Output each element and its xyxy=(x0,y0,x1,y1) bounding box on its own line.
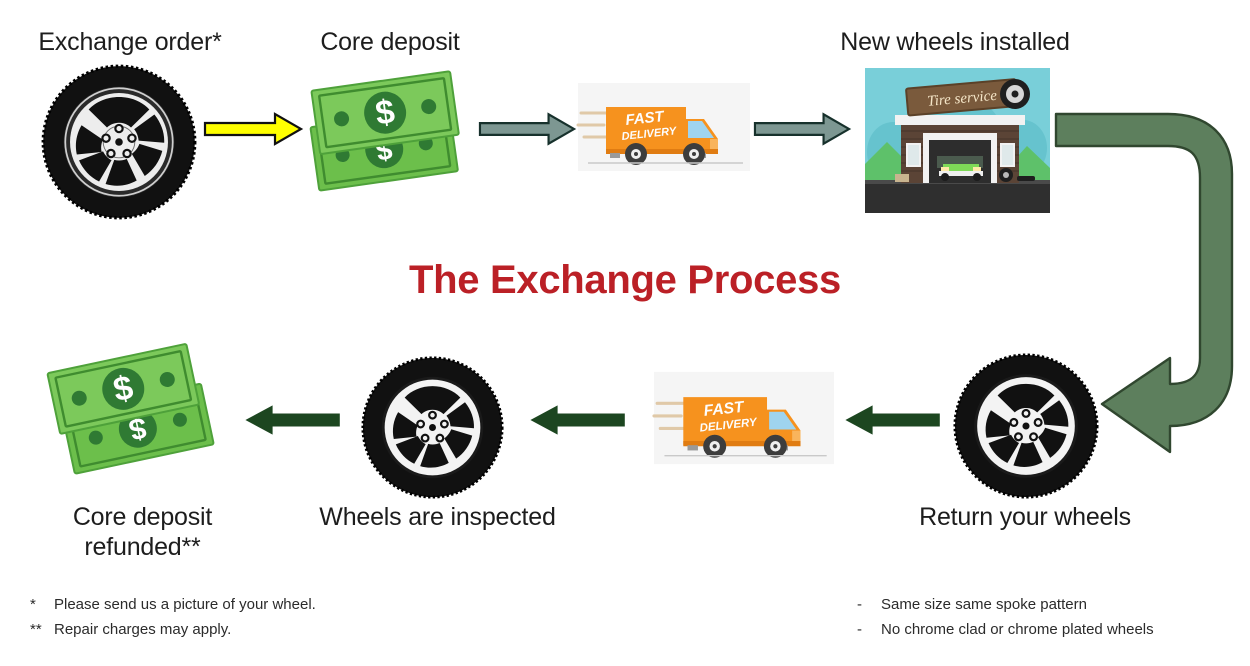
money-bills-icon: $ $ xyxy=(305,78,480,203)
footnote-text: Repair charges may apply. xyxy=(54,621,231,638)
exchange-process-diagram: Exchange order* Core deposit New wheels … xyxy=(0,0,1250,666)
label-core-deposit: Core deposit xyxy=(300,28,480,58)
footnotes-right: -Same size same spoke pattern -No chrome… xyxy=(857,593,1154,643)
footnote-text: Same size same spoke pattern xyxy=(881,596,1087,613)
footnote-text: No chrome clad or chrome plated wheels xyxy=(881,621,1154,638)
tire-wheel-silver-icon xyxy=(360,355,505,500)
arrow-inspect-to-refund xyxy=(245,405,341,435)
label-new-wheels-installed: New wheels installed xyxy=(810,28,1100,58)
footnote-text: Please send us a picture of your wheel. xyxy=(54,596,316,613)
footnote-marker: - xyxy=(857,593,881,618)
arrow-shipping-to-install xyxy=(753,112,851,146)
arrow-shipping-to-inspect xyxy=(530,405,626,435)
footnotes-left: *Please send us a picture of your wheel.… xyxy=(30,593,316,643)
tire-wheel-black-icon xyxy=(40,63,198,221)
footnote-right-1: -Same size same spoke pattern xyxy=(857,593,1154,618)
label-wheels-are-inspected: Wheels are inspected xyxy=(300,503,575,533)
label-return-your-wheels: Return your wheels xyxy=(900,503,1150,533)
refund-label-line2: refunded** xyxy=(84,533,200,561)
label-core-deposit-refunded: Core deposit refunded** xyxy=(35,503,250,562)
footnote-marker: - xyxy=(857,618,881,643)
fast-delivery-truck-icon: FAST DELIVERY xyxy=(654,370,834,466)
footnote-left-2: **Repair charges may apply. xyxy=(30,618,316,643)
footnote-marker: * xyxy=(30,593,54,618)
footnote-marker: ** xyxy=(30,618,54,643)
refund-label-line1: Core deposit xyxy=(73,503,212,531)
fast-delivery-truck-icon: FAST DELIVERY xyxy=(578,83,750,171)
label-exchange-order: Exchange order* xyxy=(25,28,235,58)
money-bills-icon: $ $ xyxy=(55,352,235,487)
page-title: The Exchange Process xyxy=(0,258,1250,303)
footnote-right-2: -No chrome clad or chrome plated wheels xyxy=(857,618,1154,643)
arrow-deposit-to-shipping xyxy=(478,112,576,146)
tire-service-shop-icon: Tire service xyxy=(865,68,1050,213)
arrow-order-to-deposit xyxy=(203,112,303,146)
tire-wheel-silver-icon xyxy=(952,352,1100,500)
footnote-left-1: *Please send us a picture of your wheel. xyxy=(30,593,316,618)
arrow-return-to-shipping xyxy=(845,405,941,435)
